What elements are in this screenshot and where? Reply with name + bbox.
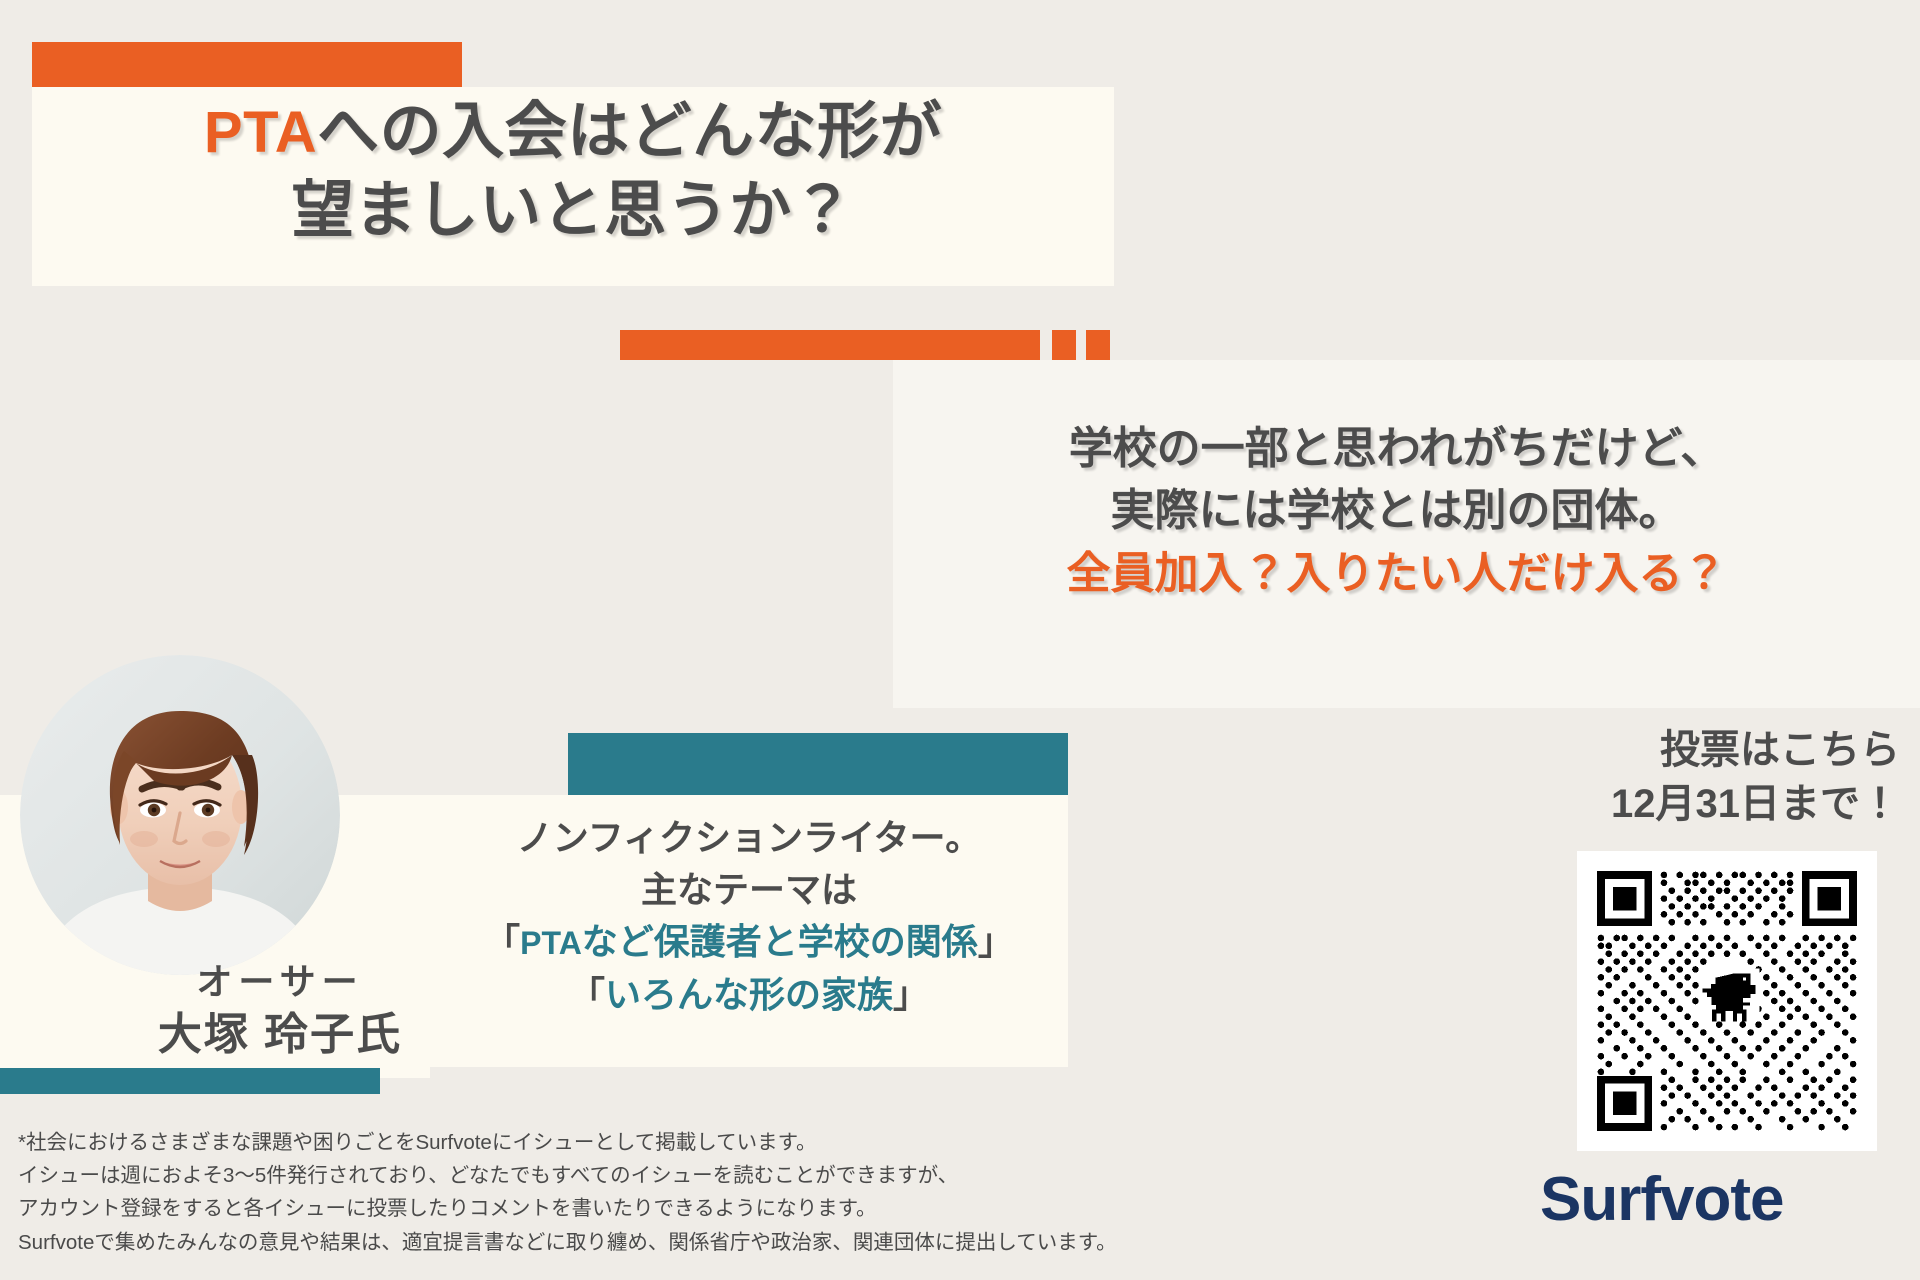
author-name: 大塚 玲子氏 bbox=[120, 1007, 440, 1062]
poster-canvas: PTAへの入会はどんな形が 望ましいと思うか？ 学校の一部と思われがちだけど、 … bbox=[0, 0, 1920, 1280]
surfvote-wordmark: Surfvote bbox=[1540, 1168, 1880, 1232]
bio-line-4-close-quote: 」 bbox=[893, 974, 929, 1015]
bio-line-3-pta: PTA bbox=[520, 925, 582, 961]
title-highlight: PTA bbox=[204, 100, 317, 165]
page-title: PTAへの入会はどんな形が 望ましいと思うか？ bbox=[32, 92, 1114, 251]
lead-line-2: 実際には学校とは別の団体。 bbox=[893, 480, 1900, 542]
bio-line-1: ノンフィクションライター。 bbox=[430, 812, 1068, 864]
qr-code-image[interactable] bbox=[1597, 871, 1857, 1131]
bio-line-4-accent: いろんな形の家族 bbox=[605, 974, 893, 1015]
vote-cta-line-2: 12月31日まで！ bbox=[1480, 777, 1900, 831]
bio-line-3-open-quote: 「 bbox=[484, 921, 520, 962]
bio-line-4: 「いろんな形の家族」 bbox=[430, 969, 1068, 1021]
author-bio: ノンフィクションライター。 主なテーマは 「PTAなど保護者と学校の関係」 「い… bbox=[430, 812, 1068, 1021]
title-underbar bbox=[620, 330, 1040, 360]
lead-line-3-accent: 全員加入？入りたい人だけ入る？ bbox=[893, 543, 1900, 605]
lead-statement: 学校の一部と思われがちだけど、 実際には学校とは別の団体。 全員加入？入りたい人… bbox=[893, 418, 1900, 605]
bio-line-2: 主なテーマは bbox=[430, 864, 1068, 916]
author-portrait-image bbox=[20, 655, 340, 975]
bio-accent-bar bbox=[568, 733, 1068, 795]
author-role: オーサー bbox=[120, 960, 440, 1003]
footer-note: *社会におけるさまざまな課題や困りごとをSurfvoteにイシューとして掲載して… bbox=[18, 1126, 1318, 1259]
title-dash-2 bbox=[1086, 330, 1110, 360]
surfvote-logo-text: Surfvote bbox=[1540, 1168, 1783, 1232]
title-dash-1 bbox=[1052, 330, 1076, 360]
surfvote-logo: Surfvote bbox=[1540, 1168, 1880, 1232]
bio-line-3: 「PTAなど保護者と学校の関係」 bbox=[430, 916, 1068, 968]
bio-line-3-close-quote: 」 bbox=[978, 921, 1014, 962]
qr-code[interactable] bbox=[1597, 871, 1857, 1131]
bio-line-4-open-quote: 「 bbox=[569, 974, 605, 1015]
title-line-1-rest: への入会はどんな形が bbox=[317, 97, 942, 166]
lead-line-1: 学校の一部と思われがちだけど、 bbox=[893, 418, 1900, 480]
avatar bbox=[20, 655, 340, 975]
title-line-1: PTAへの入会はどんな形が bbox=[32, 92, 1114, 171]
author-underbar bbox=[0, 1068, 380, 1094]
bio-line-3-accent: など保護者と学校の関係 bbox=[582, 921, 978, 962]
title-line-2: 望ましいと思うか？ bbox=[32, 171, 1114, 250]
author-identity: オーサー 大塚 玲子氏 bbox=[120, 960, 440, 1062]
title-accent-bar bbox=[32, 42, 462, 87]
vote-cta-line-1: 投票はこちら bbox=[1480, 723, 1900, 777]
vote-call-to-action: 投票はこちら 12月31日まで！ bbox=[1480, 723, 1900, 831]
